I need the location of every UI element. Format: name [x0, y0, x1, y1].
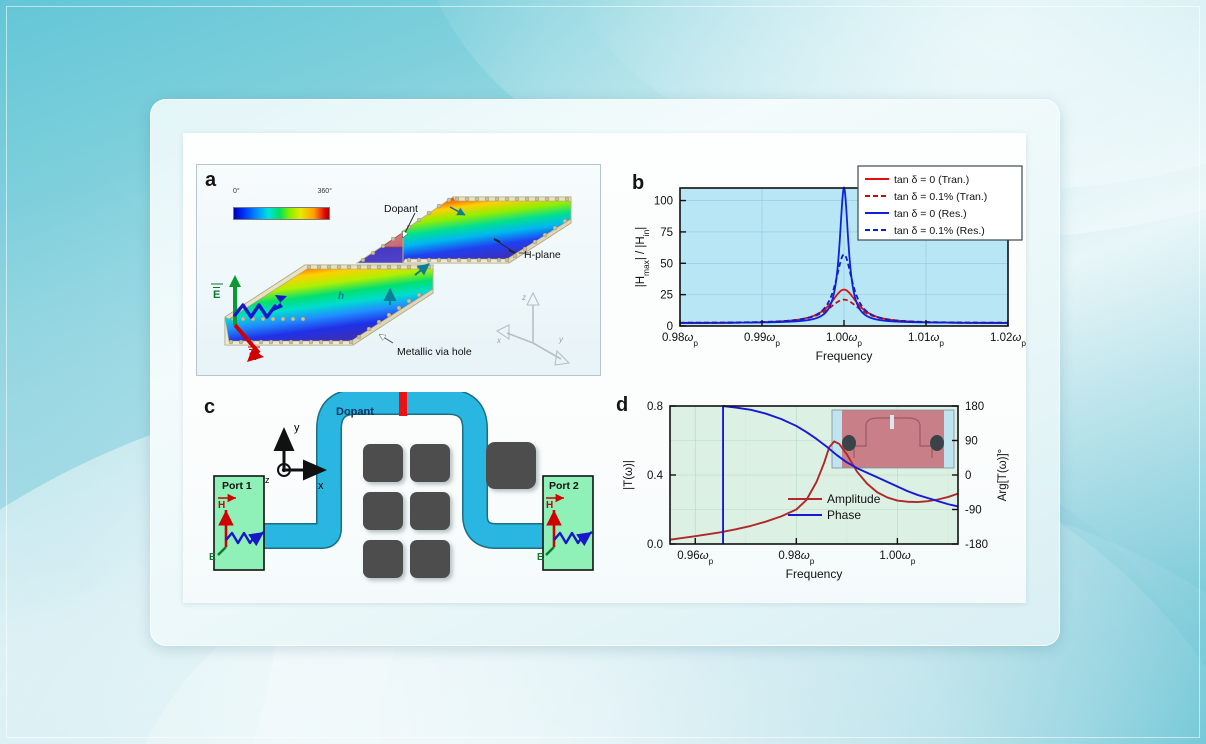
panel-d: d 0.00.40.8-180-900901800.96ωp0.98ωp1.00…	[610, 392, 1026, 598]
panel-a-h-plane-label: H-plane	[524, 249, 561, 261]
panel-b-ylabel: |Hmax| / |Hin|	[635, 227, 651, 288]
panel-b-legend-label-3: tan δ = 0.1% (Res.)	[894, 225, 985, 237]
panel-c-port2-label: Port 2	[549, 480, 579, 492]
panel-a-e-vector-label: E	[213, 289, 220, 301]
panel-c-schematic	[196, 392, 601, 594]
panel-c: c	[196, 392, 601, 594]
panel-c-axis-y-label: y	[294, 422, 300, 434]
panel-b-ytick: 25	[660, 290, 673, 302]
panel-c-port1-label: Port 1	[222, 480, 252, 492]
panel-b-legend-label-1: tan δ = 0.1% (Tran.)	[894, 191, 987, 203]
panel-d-legend-label-0: Amplitude	[827, 492, 881, 506]
panel-b-ytick: 100	[654, 196, 673, 208]
panel-d-ytick-left: 0.4	[647, 470, 664, 482]
panel-a-h-vector-label: H	[249, 351, 257, 363]
panel-b-legend: tan δ = 0 (Tran.)tan δ = 0.1% (Tran.)tan…	[858, 166, 1022, 240]
panel-d-chart: 0.00.40.8-180-900901800.96ωp0.98ωp1.00ωp…	[610, 392, 1026, 598]
panel-d-legend-label-1: Phase	[827, 508, 861, 522]
panel-d-xlabel: Frequency	[786, 567, 843, 581]
panel-a-via-label: Metallic via hole	[397, 346, 472, 358]
panel-a-axis-y-label: y	[559, 335, 563, 344]
panel-c-axis-z-label: z	[265, 475, 270, 485]
panel-d-ytick-right: 180	[965, 401, 984, 413]
panel-c-dopant-label: Dopant	[336, 406, 374, 418]
panel-b-legend-label-0: tan δ = 0 (Tran.)	[894, 174, 969, 186]
panel-a-dopant-label: Dopant	[384, 203, 418, 215]
panel-d-ylabel-right: Arg[T(ω)]°	[997, 449, 1009, 502]
axis-tick-label: 1.01ωp	[908, 332, 944, 348]
axis-tick-label: 1.00ωp	[826, 332, 862, 348]
axis-tick-label: 0.98ωp	[662, 332, 698, 348]
panel-d-ytick-right: 90	[965, 436, 978, 448]
panel-d-ytick-right: -180	[965, 539, 988, 551]
panel-a-axis-z-label: z	[522, 293, 526, 302]
panel-c-axis-x-label: x	[318, 480, 324, 492]
panel-c-port2-h-label: H	[546, 500, 553, 511]
axis-tick-label: 0.98ωp	[778, 550, 814, 566]
panel-b-legend-label-2: tan δ = 0 (Res.)	[894, 208, 967, 220]
panel-d-ytick-right: -90	[965, 505, 982, 517]
axis-tick-label: 0.99ωp	[744, 332, 780, 348]
panel-b-chart: 02550751000.98ωp0.99ωp1.00ωp1.01ωp1.02ωp…	[626, 164, 1026, 376]
axis-tick-label: 1.02ωp	[990, 332, 1026, 348]
panel-a-axis-x-label: x	[497, 336, 501, 345]
axis-tick-label: 1.00ωp	[879, 550, 915, 566]
figure-canvas: { "figure": { "panels": ["a", "b", "c", …	[0, 0, 1206, 744]
panel-d-ytick-left: 0.8	[647, 401, 663, 413]
panel-c-port1-e-label: E	[209, 552, 216, 563]
panel-b-ytick: 75	[660, 227, 673, 239]
panel-b-xlabel: Frequency	[816, 349, 873, 363]
panel-c-port2-e-label: E	[537, 552, 544, 563]
panel-b: b 02550751000.98ωp0.99ωp1.00ωp1.01ωp1.02…	[626, 164, 1026, 376]
panel-d-ylabel-left: |T(ω)|	[623, 460, 635, 490]
panel-d-ytick-right: 0	[965, 470, 971, 482]
panel-a: a 0° 360°	[196, 164, 601, 376]
panel-d-ytick-left: 0.0	[647, 539, 663, 551]
panel-a-height-label: h	[338, 291, 344, 302]
panel-c-port1-h-label: H	[218, 500, 225, 511]
panel-b-ytick: 50	[660, 258, 673, 270]
axis-tick-label: 0.96ωp	[677, 550, 713, 566]
